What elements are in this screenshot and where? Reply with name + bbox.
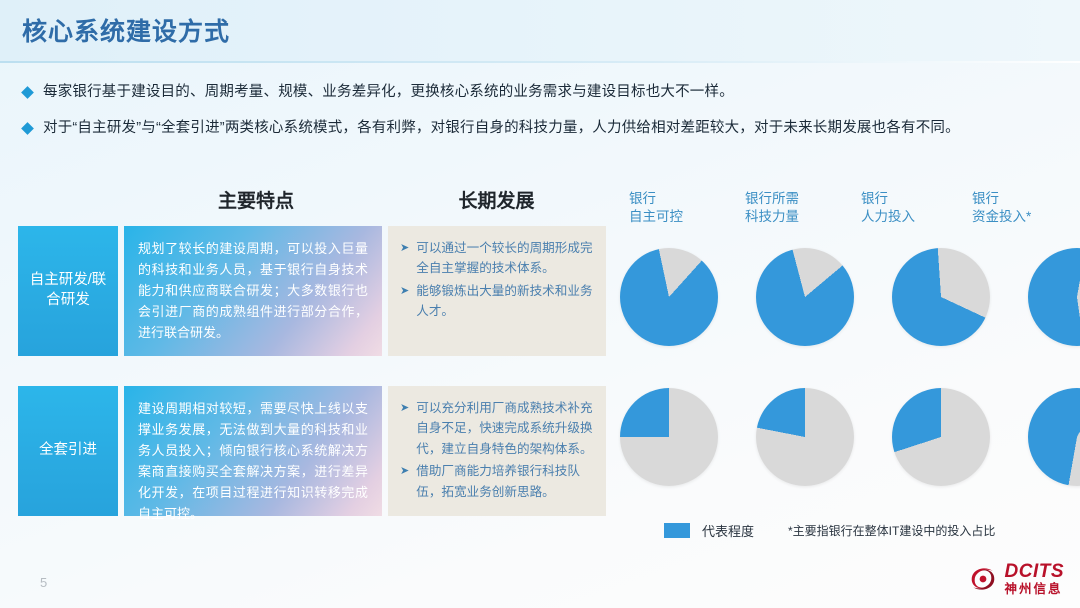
- slide-root: 核心系统建设方式 每家银行基于建设目的、周期考量、规模、业务差异化，更换核心系统…: [0, 0, 1080, 608]
- diamond-bullet-icon: [21, 86, 34, 99]
- development-item: ➤ 借助厂商能力培养银行科技队伍，拓宽业务创新思路。: [396, 461, 596, 502]
- mode-label-cell: 全套引进: [18, 386, 118, 516]
- pie-chart-funding: [1028, 248, 1080, 346]
- page-number: 5: [40, 575, 47, 590]
- development-cell: ➤ 可以充分利用厂商成熟技术补充自身不足，快速完成系统升级换代，建立自身特色的架…: [388, 386, 606, 516]
- logo-english: DCITS: [1005, 562, 1065, 581]
- page-title: 核心系统建设方式: [22, 12, 230, 48]
- feature-cell: 规划了较长的建设周期，可以投入巨量的科技和业务人员，基于银行自身技术能力和供应商…: [124, 226, 382, 356]
- pie-chart-manpower: [892, 248, 990, 346]
- development-item: ➤ 能够锻炼出大量的新技术和业务人才。: [396, 281, 596, 322]
- development-item: ➤ 可以充分利用厂商成熟技术补充自身不足，快速完成系统升级换代，建立自身特色的架…: [396, 398, 596, 459]
- table-row: 全套引进 建设周期相对较短，需要尽快上线以支撑业务发展，无法做到大量的科技和业务…: [18, 386, 606, 516]
- development-item: ➤ 可以通过一个较长的周期形成完全自主掌握的技术体系。: [396, 238, 596, 279]
- pie-column-header-funding: 银行 资金投入*: [972, 190, 1031, 226]
- development-text: 能够锻炼出大量的新技术和业务人才。: [416, 281, 596, 322]
- pie-chart-funding: [1028, 388, 1080, 486]
- brand-logo: DCITS 神州信息: [968, 562, 1065, 596]
- diamond-bullet-icon: [21, 122, 34, 135]
- mode-label-cell: 自主研发/联合研发: [18, 226, 118, 356]
- title-divider: [0, 61, 1080, 63]
- logo-wordmark: DCITS 神州信息: [1005, 562, 1065, 596]
- arrow-right-icon: ➤: [400, 400, 409, 418]
- column-header-long-term: 长期发展: [384, 186, 609, 213]
- bullet-text: 对于“自主研发”与“全套引进”两类核心系统模式，各有利弊，对银行自身的科技力量，…: [43, 118, 960, 138]
- bullet-list: 每家银行基于建设目的、周期考量、规模、业务差异化，更换核心系统的业务需求与建设目…: [18, 82, 1068, 155]
- pie-column-header-tech-power: 银行所需 科技力量: [745, 190, 799, 226]
- dcits-swirl-icon: [968, 564, 998, 594]
- pie-chart-tech-power: [756, 388, 854, 486]
- legend-footnote: *主要指银行在整体IT建设中的投入占比: [788, 522, 995, 539]
- logo-chinese: 神州信息: [1005, 583, 1065, 596]
- arrow-right-icon: ➤: [400, 283, 409, 301]
- bullet-text: 每家银行基于建设目的、周期考量、规模、业务差异化，更换核心系统的业务需求与建设目…: [43, 82, 734, 102]
- pie-chart-row-self-developed: [620, 248, 1080, 346]
- pie-chart-autonomy: [620, 388, 718, 486]
- pie-chart-tech-power: [756, 248, 854, 346]
- pie-chart-autonomy: [620, 248, 718, 346]
- legend-blue-swatch: [664, 523, 690, 538]
- development-text: 可以充分利用厂商成熟技术补充自身不足，快速完成系统升级换代，建立自身特色的架构体…: [416, 398, 596, 459]
- chart-legend: 代表程度 *主要指银行在整体IT建设中的投入占比: [664, 521, 995, 540]
- table-row: 自主研发/联合研发 规划了较长的建设周期，可以投入巨量的科技和业务人员，基于银行…: [18, 226, 606, 356]
- pie-chart-row-full-import: [620, 388, 1080, 486]
- bullet-item: 每家银行基于建设目的、周期考量、规模、业务差异化，更换核心系统的业务需求与建设目…: [18, 82, 1068, 102]
- development-cell: ➤ 可以通过一个较长的周期形成完全自主掌握的技术体系。 ➤ 能够锻炼出大量的新技…: [388, 226, 606, 356]
- development-text: 借助厂商能力培养银行科技队伍，拓宽业务创新思路。: [416, 461, 596, 502]
- arrow-right-icon: ➤: [400, 240, 409, 258]
- pie-column-header-autonomy: 银行 自主可控: [629, 190, 683, 226]
- feature-cell: 建设周期相对较短，需要尽快上线以支撑业务发展，无法做到大量的科技和业务人员投入；…: [124, 386, 382, 516]
- arrow-right-icon: ➤: [400, 463, 409, 481]
- development-text: 可以通过一个较长的周期形成完全自主掌握的技术体系。: [416, 238, 596, 279]
- column-header-main-features: 主要特点: [130, 186, 382, 213]
- pie-chart-manpower: [892, 388, 990, 486]
- pie-column-header-manpower: 银行 人力投入: [861, 190, 915, 226]
- legend-label: 代表程度: [702, 521, 754, 540]
- bullet-item: 对于“自主研发”与“全套引进”两类核心系统模式，各有利弊，对银行自身的科技力量，…: [18, 118, 1068, 138]
